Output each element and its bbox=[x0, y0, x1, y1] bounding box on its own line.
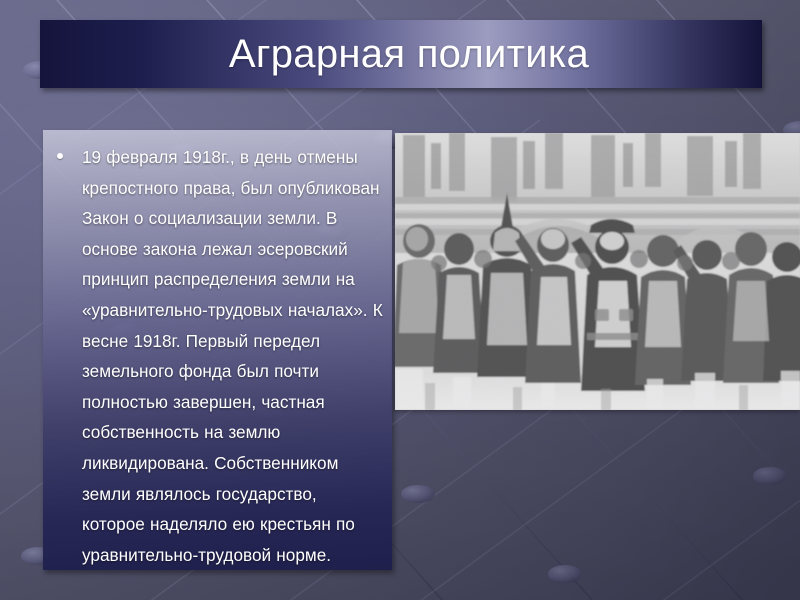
historical-photograph bbox=[395, 133, 800, 410]
presentation-slide: Аграрная политика 19 февраля 1918г., в д… bbox=[0, 0, 800, 600]
content-text-panel: 19 февраля 1918г., в день отмены крепост… bbox=[43, 130, 392, 570]
photograph-artwork bbox=[395, 133, 800, 410]
slide-title-banner: Аграрная политика bbox=[40, 20, 762, 88]
bullet-point-icon bbox=[57, 153, 63, 159]
page-title: Аграрная политика bbox=[229, 34, 589, 74]
bullet-list-item: 19 февраля 1918г., в день отмены крепост… bbox=[55, 142, 384, 570]
body-paragraph: 19 февраля 1918г., в день отмены крепост… bbox=[82, 142, 384, 570]
